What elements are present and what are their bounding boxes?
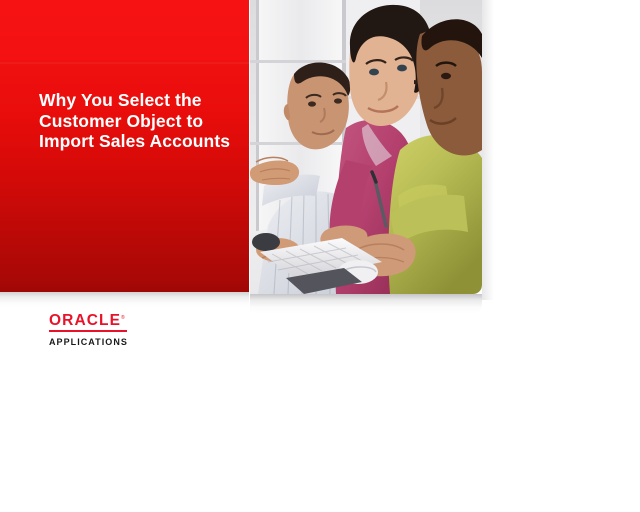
panel-drop-shadow (0, 292, 249, 308)
photo-edge-shadow (482, 0, 494, 300)
hero-photo (250, 0, 482, 294)
slide-title: Why You Select the Customer Object to Im… (39, 90, 235, 152)
oracle-wordmark: ORACLE® (49, 311, 129, 328)
oracle-logo: ORACLE® APPLICATIONS (49, 311, 129, 347)
panel-band (0, 62, 249, 64)
registered-trademark-icon: ® (121, 315, 125, 321)
oracle-logo-rule (49, 330, 127, 332)
oracle-wordmark-text: ORACLE (49, 312, 121, 329)
presentation-slide: Why You Select the Customer Object to Im… (0, 0, 640, 512)
hero-photo-illustration (250, 0, 482, 294)
photo-drop-shadow (250, 294, 482, 314)
oracle-logo-subtitle: APPLICATIONS (49, 337, 127, 347)
